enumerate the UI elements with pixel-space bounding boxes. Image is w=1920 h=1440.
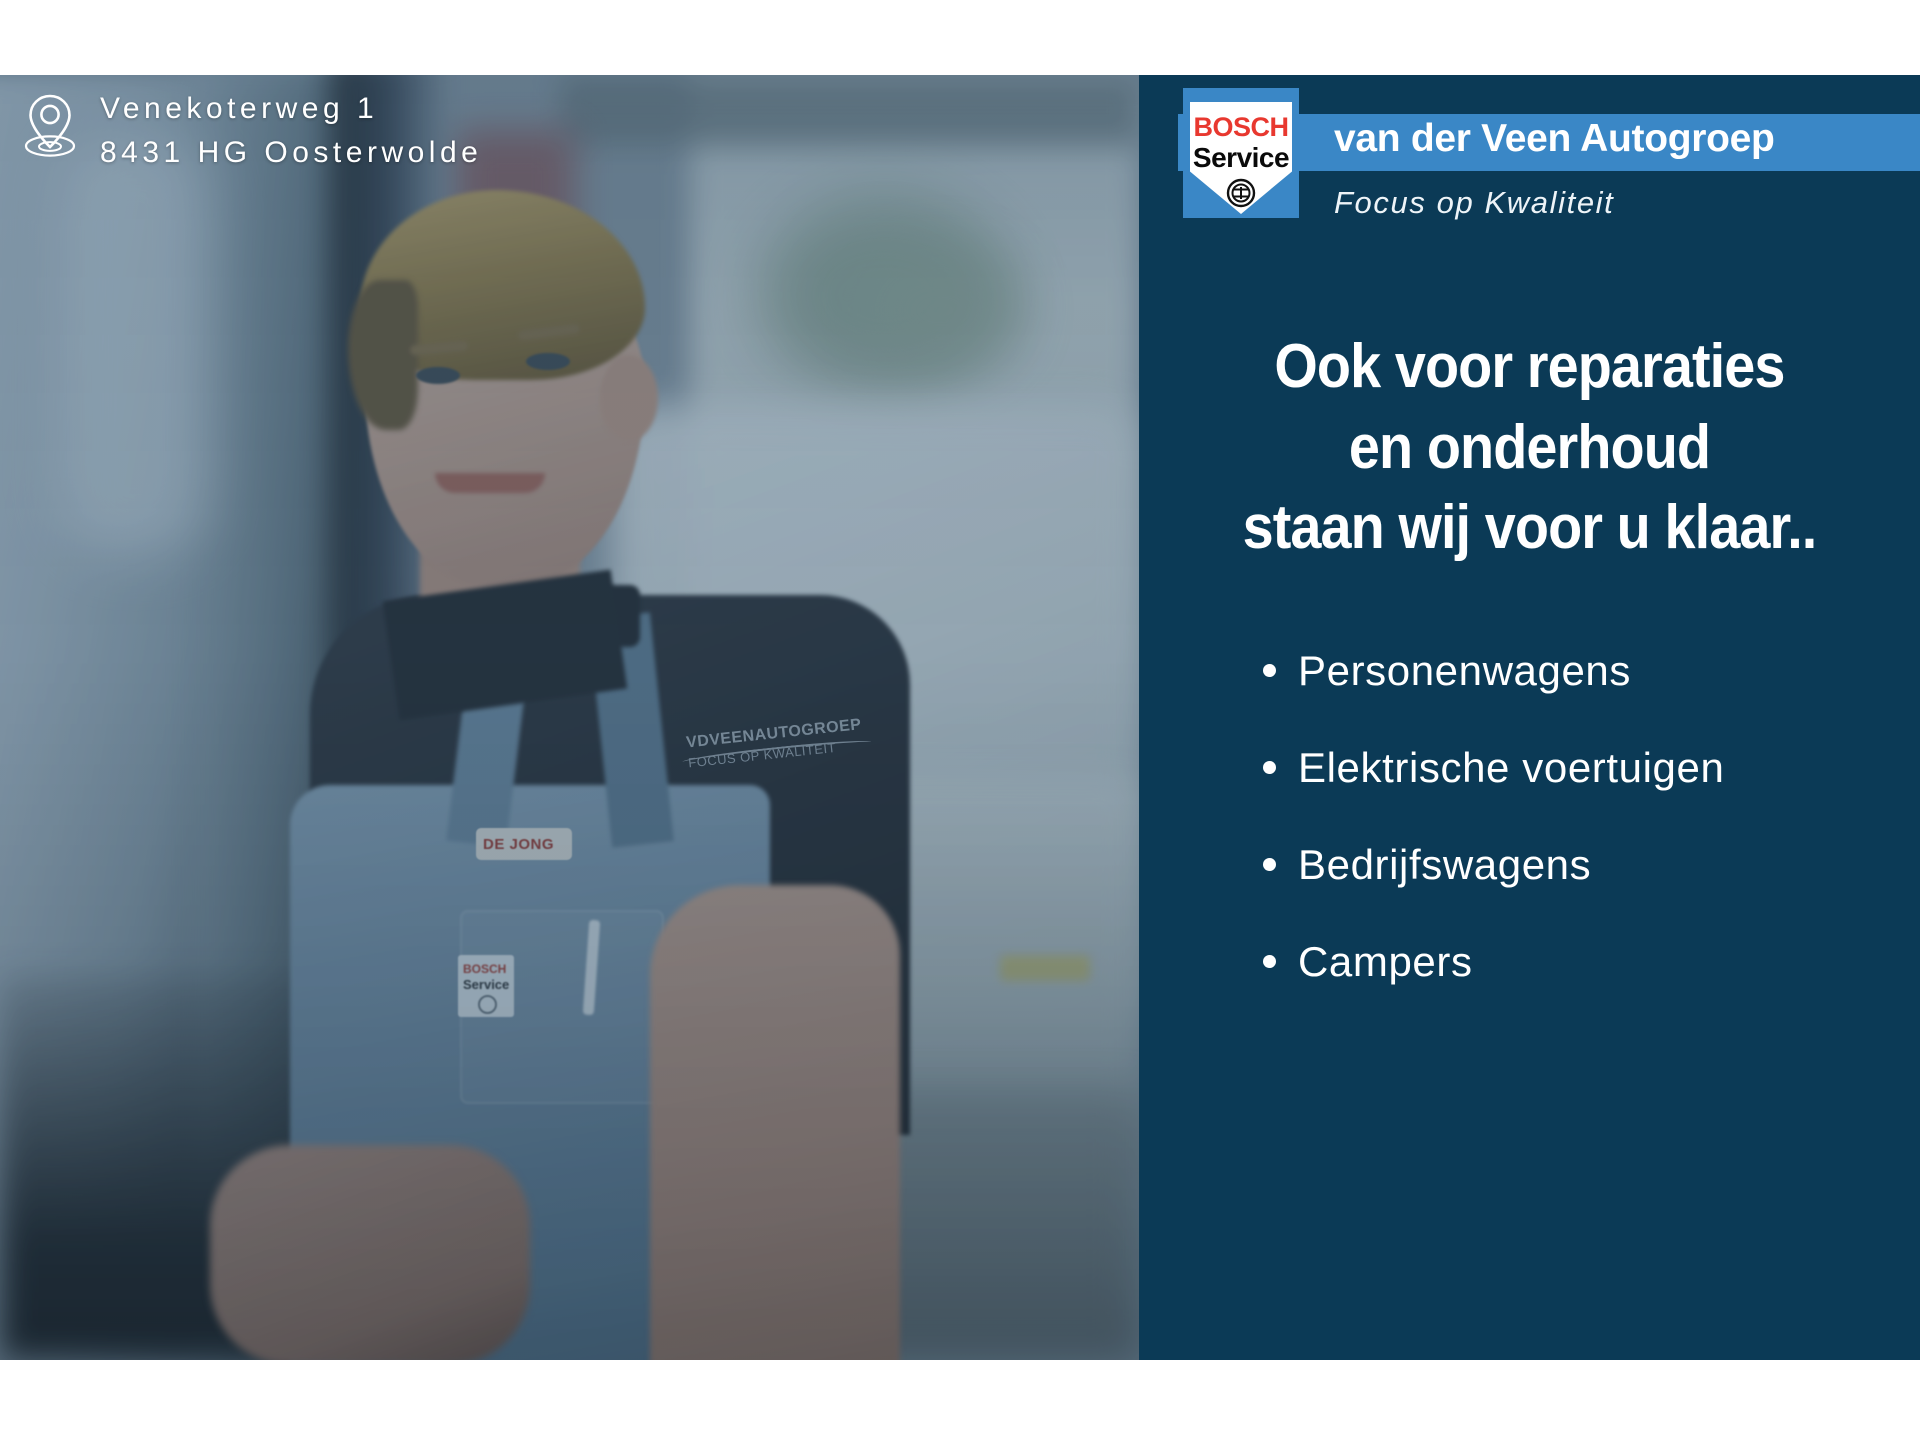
map-pin-icon: [24, 93, 76, 159]
services-list: Personenwagens Elektrische voertuigen Be…: [1263, 647, 1903, 1035]
headline-line-2: en onderhoud: [1178, 408, 1881, 489]
headline-line-3: staan wij voor u klaar..: [1178, 488, 1881, 569]
list-item: Bedrijfswagens: [1263, 841, 1903, 889]
list-item: Personenwagens: [1263, 647, 1903, 695]
address-lines: Venekoterweg 1 8431 HG Oosterwolde: [100, 89, 482, 170]
bullet-dot-icon: [1263, 858, 1276, 871]
list-item-label: Elektrische voertuigen: [1298, 744, 1724, 792]
bullet-dot-icon: [1263, 664, 1276, 677]
bosch-logo-shield: BOSCH Service: [1190, 102, 1292, 214]
address-block: Venekoterweg 1 8431 HG Oosterwolde: [24, 89, 482, 170]
bosch-service-logo: BOSCH Service: [1183, 88, 1299, 218]
headline-line-1: Ook voor reparaties: [1178, 327, 1881, 408]
photo-haze-overlay: [0, 75, 1139, 1360]
address-line-2: 8431 HG Oosterwolde: [100, 136, 482, 170]
brand-name: van der Veen Autogroep: [1334, 117, 1775, 161]
headline: Ook voor reparaties en onderhoud staan w…: [1178, 327, 1881, 569]
bosch-armature-icon: [1226, 178, 1256, 208]
list-item: Elektrische voertuigen: [1263, 744, 1903, 792]
bullet-dot-icon: [1263, 761, 1276, 774]
bosch-wordmark: BOSCH: [1190, 112, 1292, 143]
info-panel: BOSCH Service van der Veen Autogroep Foc…: [1139, 75, 1920, 1360]
list-item-label: Campers: [1298, 938, 1473, 986]
address-line-1: Venekoterweg 1: [100, 92, 482, 126]
list-item: Campers: [1263, 938, 1903, 986]
list-item-label: Personenwagens: [1298, 647, 1631, 695]
advertisement-banner: DE JONG BOSCH Service: [0, 0, 1920, 1440]
brand-tagline: Focus op Kwaliteit: [1334, 185, 1614, 221]
service-wordmark: Service: [1190, 142, 1292, 174]
bullet-dot-icon: [1263, 955, 1276, 968]
content-band: DE JONG BOSCH Service: [0, 75, 1920, 1360]
mechanic-photo: DE JONG BOSCH Service: [0, 75, 1139, 1360]
list-item-label: Bedrijfswagens: [1298, 841, 1591, 889]
